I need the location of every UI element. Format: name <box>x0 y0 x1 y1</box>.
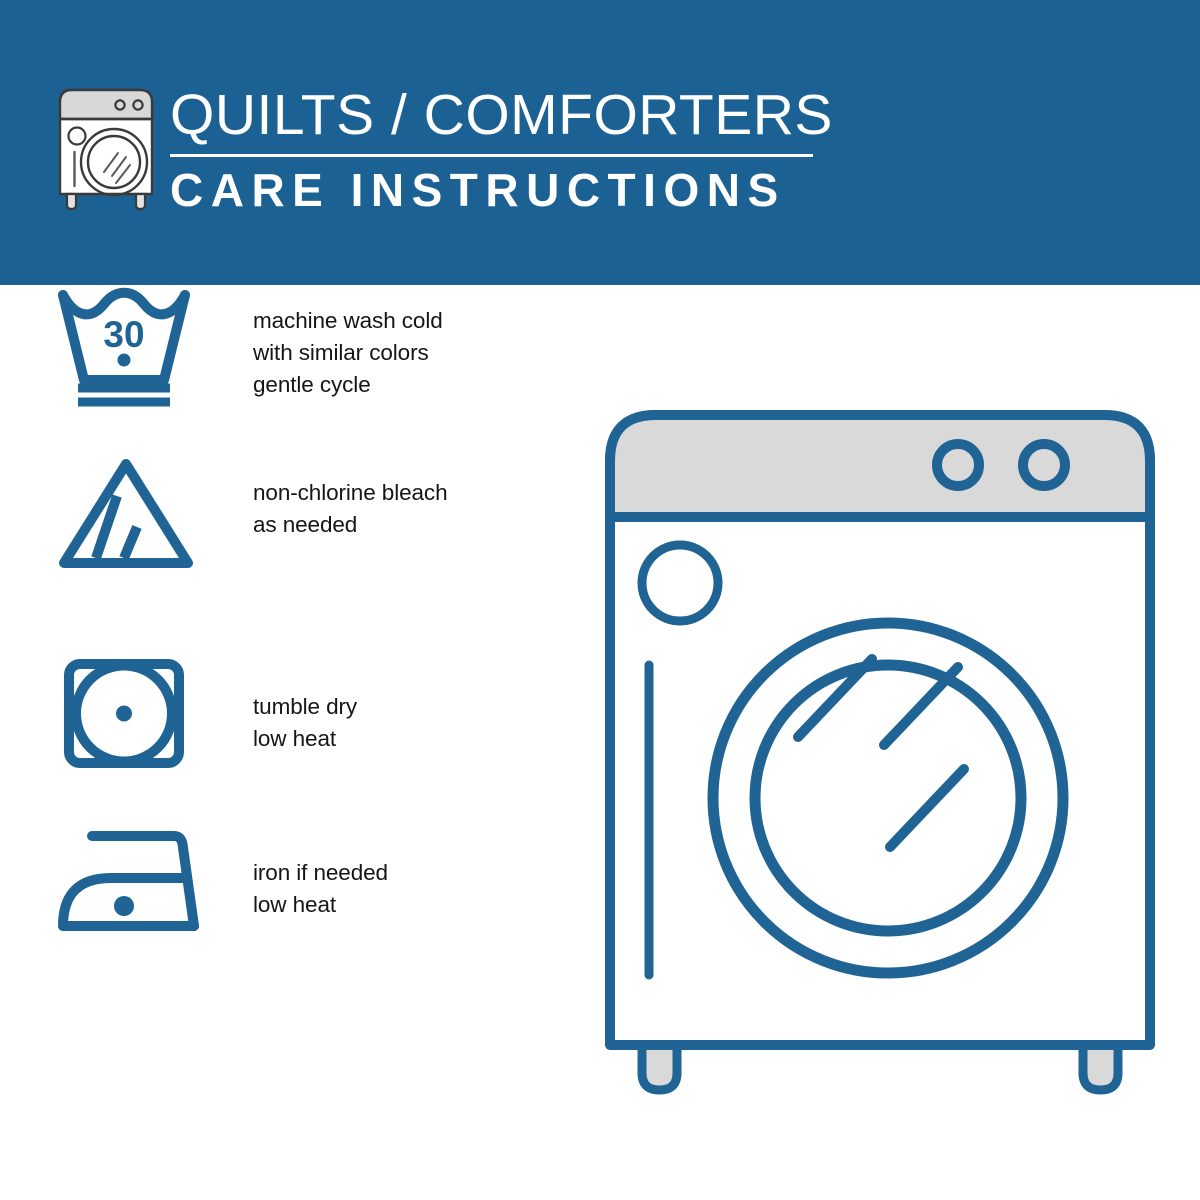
page-subtitle: CARE INSTRUCTIONS <box>170 164 820 216</box>
washing-machine-icon <box>52 80 160 212</box>
care-symbol-list: 30 machine wash cold with similar colors… <box>0 285 560 1200</box>
non-chlorine-bleach-triangle-icon <box>58 455 194 575</box>
care-text-machine-wash: machine wash cold with similar colors ge… <box>253 305 443 401</box>
wash-tub-30-gentle-icon: 30 <box>58 285 194 407</box>
leg-left <box>642 1045 677 1090</box>
tumble-dry-low-heat-icon <box>58 655 194 775</box>
page-title: QUILTS / COMFORTERS <box>170 84 820 146</box>
care-instructions-page: QUILTS / COMFORTERS CARE INSTRUCTIONS 30 <box>0 0 1200 1200</box>
title-divider <box>170 154 813 157</box>
care-text-iron: iron if needed low heat <box>253 857 388 921</box>
svg-text:30: 30 <box>103 314 144 355</box>
care-text-bleach: non-chlorine bleach as needed <box>253 477 447 541</box>
front-load-washing-machine-illustration <box>600 405 1160 1115</box>
page-header: QUILTS / COMFORTERS CARE INSTRUCTIONS <box>0 0 1200 285</box>
care-text-tumble-dry: tumble dry low heat <box>253 691 357 755</box>
leg-right <box>1083 1045 1118 1090</box>
iron-low-heat-icon <box>58 825 198 945</box>
header-titles: QUILTS / COMFORTERS CARE INSTRUCTIONS <box>170 84 820 216</box>
